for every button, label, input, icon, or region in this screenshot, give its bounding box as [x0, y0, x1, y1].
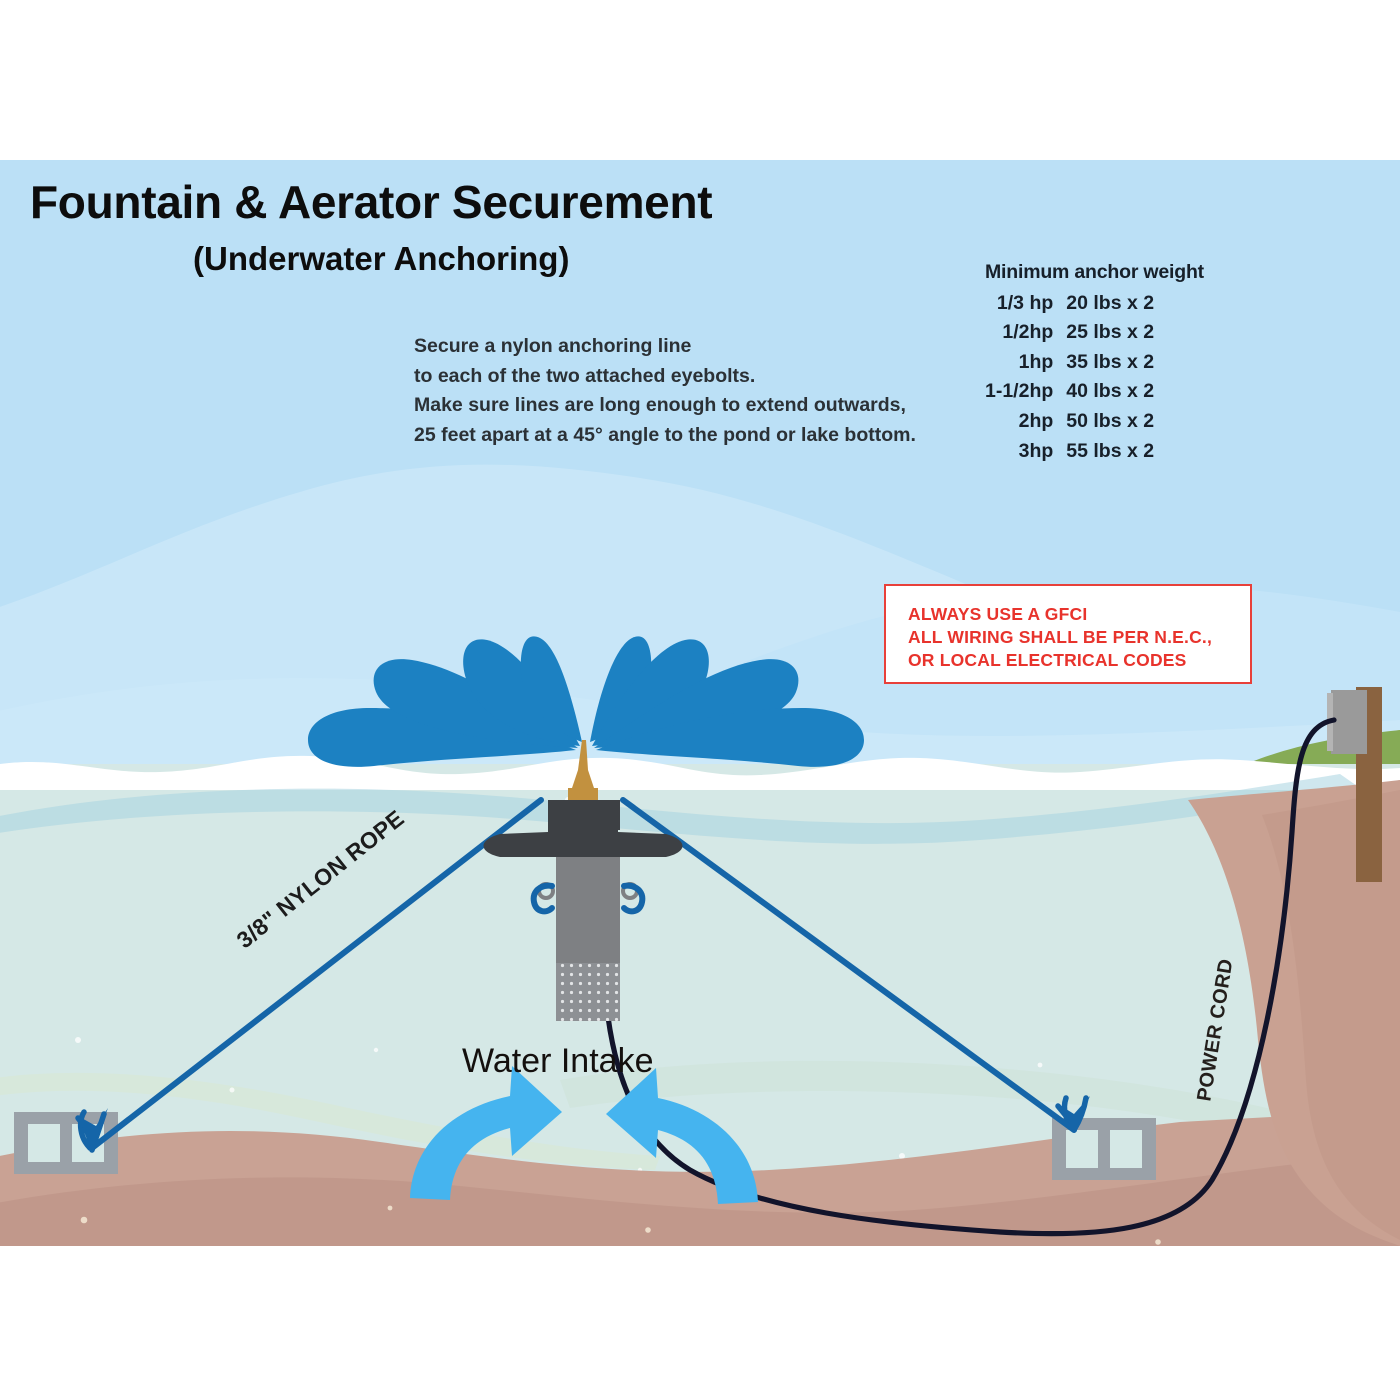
anchor-weight: 40 lbs x 2: [1066, 377, 1154, 407]
table-row: 1hp 35 lbs x 2: [985, 348, 1154, 378]
water-intake-label: Water Intake: [462, 1042, 653, 1081]
warning-line-3: OR LOCAL ELECTRICAL CODES: [908, 650, 1187, 671]
instruction-line-2: to each of the two attached eyebolts.: [414, 362, 916, 392]
anchor-hp: 2hp: [985, 407, 1066, 437]
pump-float-top: [548, 800, 620, 830]
anchor-hp: 3hp: [985, 437, 1066, 467]
warning-line-2: ALL WIRING SHALL BE PER N.E.C.,: [908, 627, 1212, 648]
anchor-hp: 1-1/2hp: [985, 377, 1066, 407]
instruction-line-4: 25 feet apart at a 45° angle to the pond…: [414, 421, 916, 451]
page-title: Fountain & Aerator Securement: [30, 175, 712, 229]
table-row: 1-1/2hp 40 lbs x 2: [985, 377, 1154, 407]
anchor-weight-title: Minimum anchor weight: [985, 258, 1204, 288]
anchor-weight: 55 lbs x 2: [1066, 437, 1154, 467]
table-row: 1/2hp 25 lbs x 2: [985, 318, 1154, 348]
instructions-block: Secure a nylon anchoring line to each of…: [414, 332, 916, 450]
table-row: 3hp 55 lbs x 2: [985, 437, 1154, 467]
gfci-warning-box: ALWAYS USE A GFCI ALL WIRING SHALL BE PE…: [884, 584, 1252, 684]
diagram-root: Fountain & Aerator Securement (Underwate…: [0, 0, 1400, 1400]
anchor-weight-table: Minimum anchor weight 1/3 hp 20 lbs x 2 …: [985, 258, 1204, 466]
anchor-weight: 50 lbs x 2: [1066, 407, 1154, 437]
instruction-line-1: Secure a nylon anchoring line: [414, 332, 916, 362]
pump-intake-screen: [556, 963, 620, 1021]
electrical-box: [1331, 690, 1367, 754]
anchor-hp: 1/2hp: [985, 318, 1066, 348]
warning-line-1: ALWAYS USE A GFCI: [908, 604, 1087, 625]
table-row: 1/3 hp 20 lbs x 2: [985, 289, 1154, 319]
anchor-weight: 20 lbs x 2: [1066, 289, 1154, 319]
anchor-weight: 25 lbs x 2: [1066, 318, 1154, 348]
anchor-hp: 1hp: [985, 348, 1066, 378]
instruction-line-3: Make sure lines are long enough to exten…: [414, 391, 916, 421]
anchor-weight: 35 lbs x 2: [1066, 348, 1154, 378]
page-subtitle: (Underwater Anchoring): [193, 240, 569, 278]
table-row: 2hp 50 lbs x 2: [985, 407, 1154, 437]
anchor-hp: 1/3 hp: [985, 289, 1066, 319]
